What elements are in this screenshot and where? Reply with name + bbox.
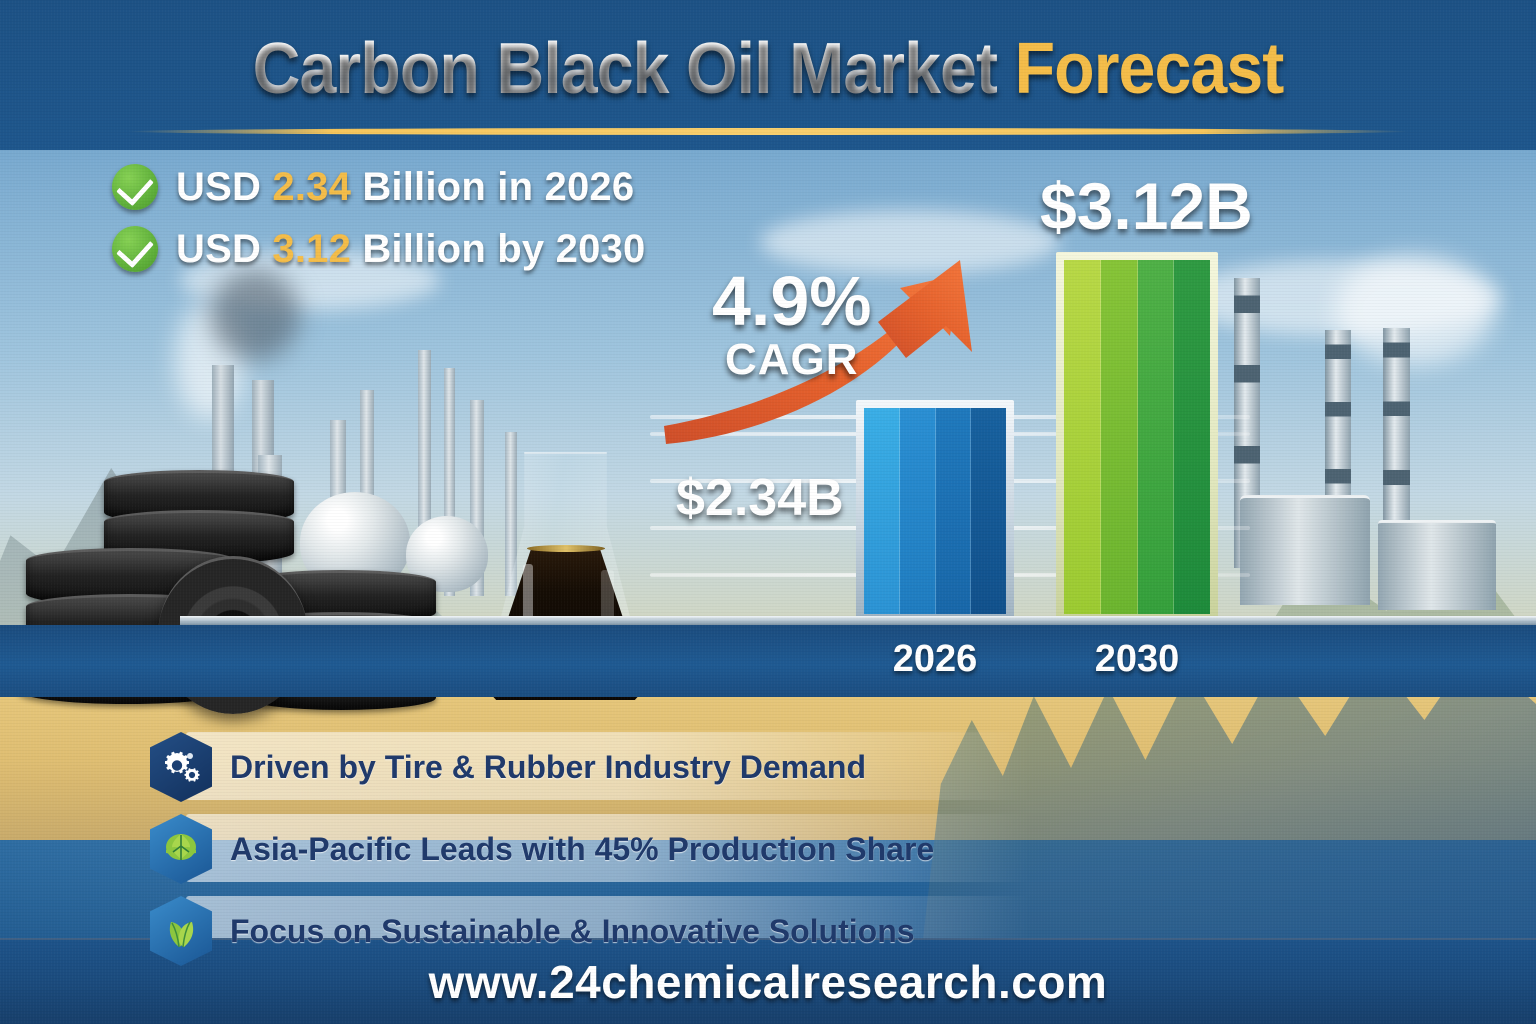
list-item: USD 3.12 Billion by 2030	[112, 226, 645, 272]
list-item: Asia-Pacific Leads with 45% Production S…	[150, 818, 1030, 880]
bar-segment	[936, 408, 972, 614]
storage-tank	[1378, 520, 1496, 610]
feature-text: Asia-Pacific Leads with 45% Production S…	[230, 831, 934, 868]
highlight-text: USD 2.34 Billion in 2026	[176, 165, 634, 210]
chart-axis	[180, 616, 1536, 625]
title-main: Carbon Black Oil Market	[253, 29, 998, 109]
bar-2030	[1056, 252, 1218, 622]
bar-frame	[856, 400, 1014, 622]
website-url[interactable]: www.24chemicalresearch.com	[429, 955, 1108, 1009]
highlight-value: 3.12	[272, 227, 351, 271]
cagr-label: CAGR	[712, 335, 872, 385]
feature-text: Focus on Sustainable & Innovative Soluti…	[230, 913, 915, 950]
bar-segment	[1174, 260, 1210, 614]
bar-segment	[1064, 260, 1101, 614]
bar-segment	[1101, 260, 1138, 614]
year-band	[0, 625, 1536, 697]
feature-list: Driven by Tire & Rubber Industry Demand …	[150, 736, 1030, 982]
bar-2026	[856, 400, 1014, 622]
bar-segment	[864, 408, 900, 614]
check-circle-icon	[112, 226, 158, 272]
bar-fill	[1064, 260, 1210, 614]
bar-fill	[864, 408, 1006, 614]
x-tick-2030: 2030	[1056, 638, 1218, 681]
bar-segment	[900, 408, 936, 614]
value-label-2026: $2.34B	[676, 468, 844, 528]
bar-segment	[971, 408, 1006, 614]
page-title: Carbon Black Oil Market Forecast	[61, 28, 1474, 110]
bar-frame	[1056, 252, 1218, 622]
footer-bar: www.24chemicalresearch.com	[0, 938, 1536, 1024]
list-item: USD 2.34 Billion in 2026	[112, 164, 645, 210]
highlight-suffix: Billion by 2030	[351, 227, 645, 271]
check-circle-icon	[112, 164, 158, 210]
cagr-value: 4.9%	[712, 268, 872, 335]
oil-surface	[527, 545, 605, 552]
highlight-suffix: Billion in 2026	[351, 165, 634, 209]
feature-text: Driven by Tire & Rubber Industry Demand	[230, 749, 866, 786]
cagr-annotation: 4.9% CAGR	[712, 268, 872, 385]
smoke-plume	[1335, 255, 1495, 365]
title-accent: Forecast	[1015, 29, 1284, 109]
value-label-2030: $3.12B	[1040, 168, 1253, 244]
infographic-poster: Carbon Black Oil Market Forecast USD 2.3…	[0, 0, 1536, 1024]
highlight-prefix: USD	[176, 165, 272, 209]
title-divider	[128, 128, 1408, 135]
x-tick-2026: 2026	[856, 638, 1014, 681]
highlight-prefix: USD	[176, 227, 272, 271]
highlight-value: 2.34	[272, 165, 351, 209]
highlight-list: USD 2.34 Billion in 2026 USD 3.12 Billio…	[112, 164, 645, 288]
highlight-text: USD 3.12 Billion by 2030	[176, 227, 645, 272]
bar-segment	[1138, 260, 1175, 614]
list-item: Driven by Tire & Rubber Industry Demand	[150, 736, 1030, 798]
